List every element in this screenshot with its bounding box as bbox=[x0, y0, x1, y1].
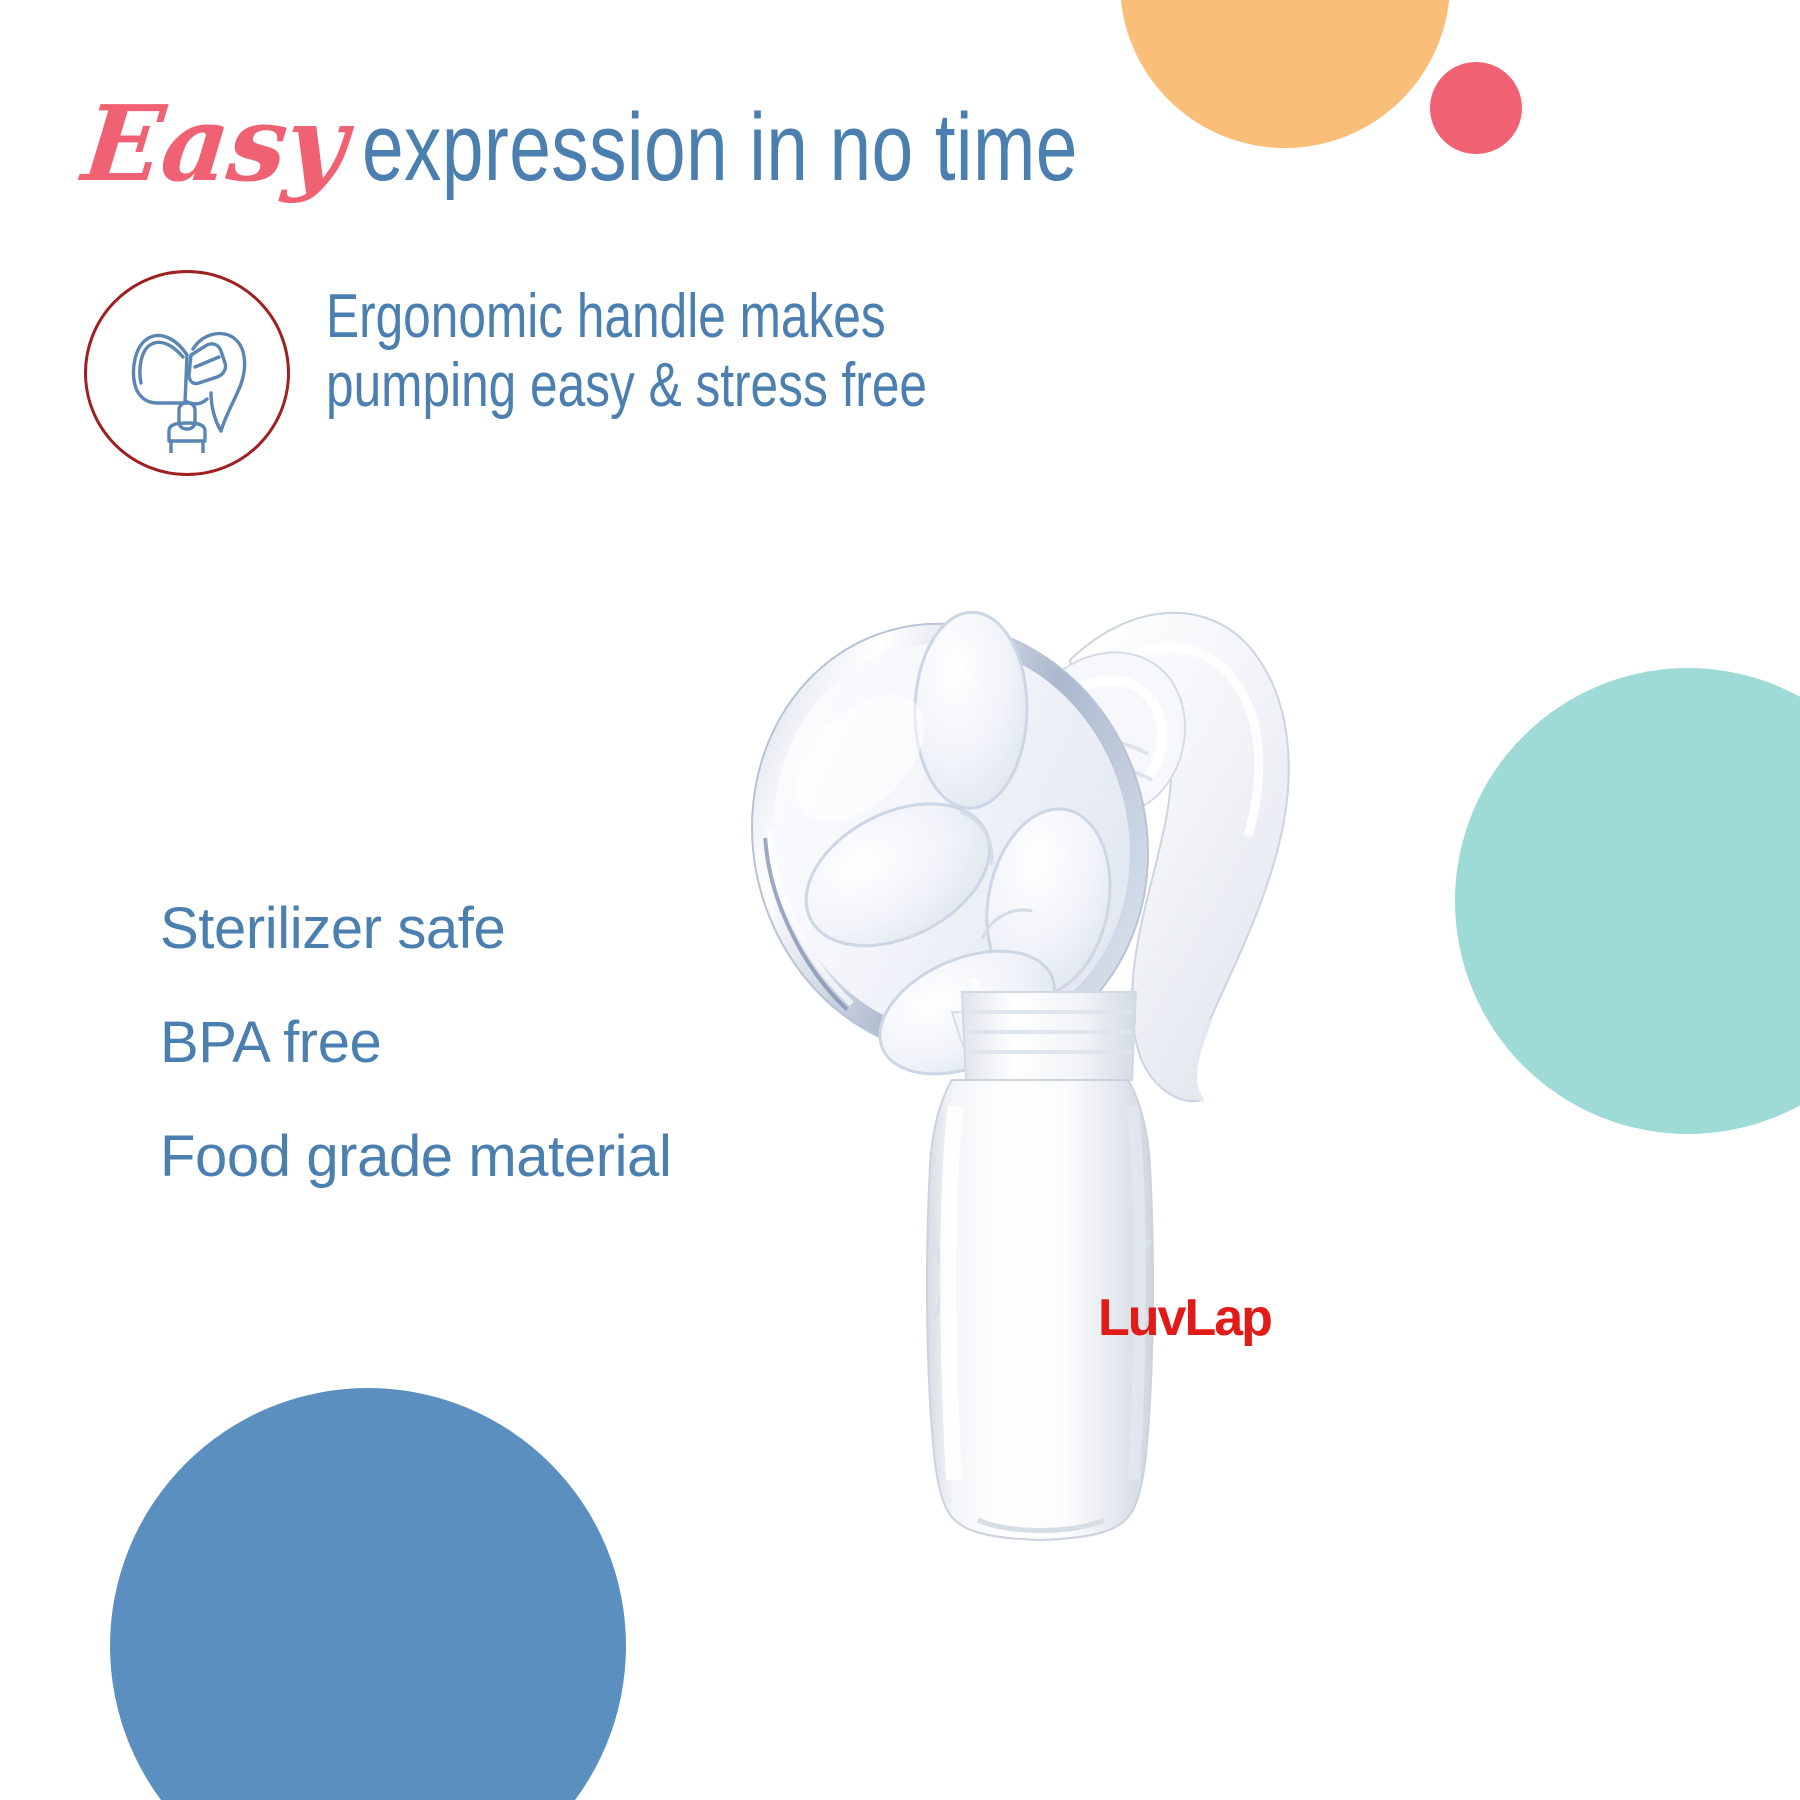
headline-rest-text: expression in no time bbox=[362, 100, 1078, 196]
brand-logo-luvlap: LuvLap bbox=[1098, 1292, 1271, 1344]
coral-dot-decoration bbox=[1430, 62, 1522, 154]
headline-emphasis-word: Easy bbox=[79, 92, 352, 196]
poster-canvas: Easyexpression in no time bbox=[0, 0, 1800, 1800]
feature-description: Ergonomic handle makes pumping easy & st… bbox=[326, 282, 1014, 421]
manual-breast-pump-icon bbox=[84, 270, 290, 476]
bottle-neck bbox=[962, 992, 1136, 1080]
blue-circle-decoration bbox=[110, 1388, 626, 1800]
page-title: Easyexpression in no time bbox=[84, 92, 1384, 212]
feature-highlight: Ergonomic handle makes pumping easy & st… bbox=[84, 262, 1184, 492]
teal-circle-decoration bbox=[1455, 668, 1800, 1134]
product-image bbox=[740, 540, 1380, 1600]
